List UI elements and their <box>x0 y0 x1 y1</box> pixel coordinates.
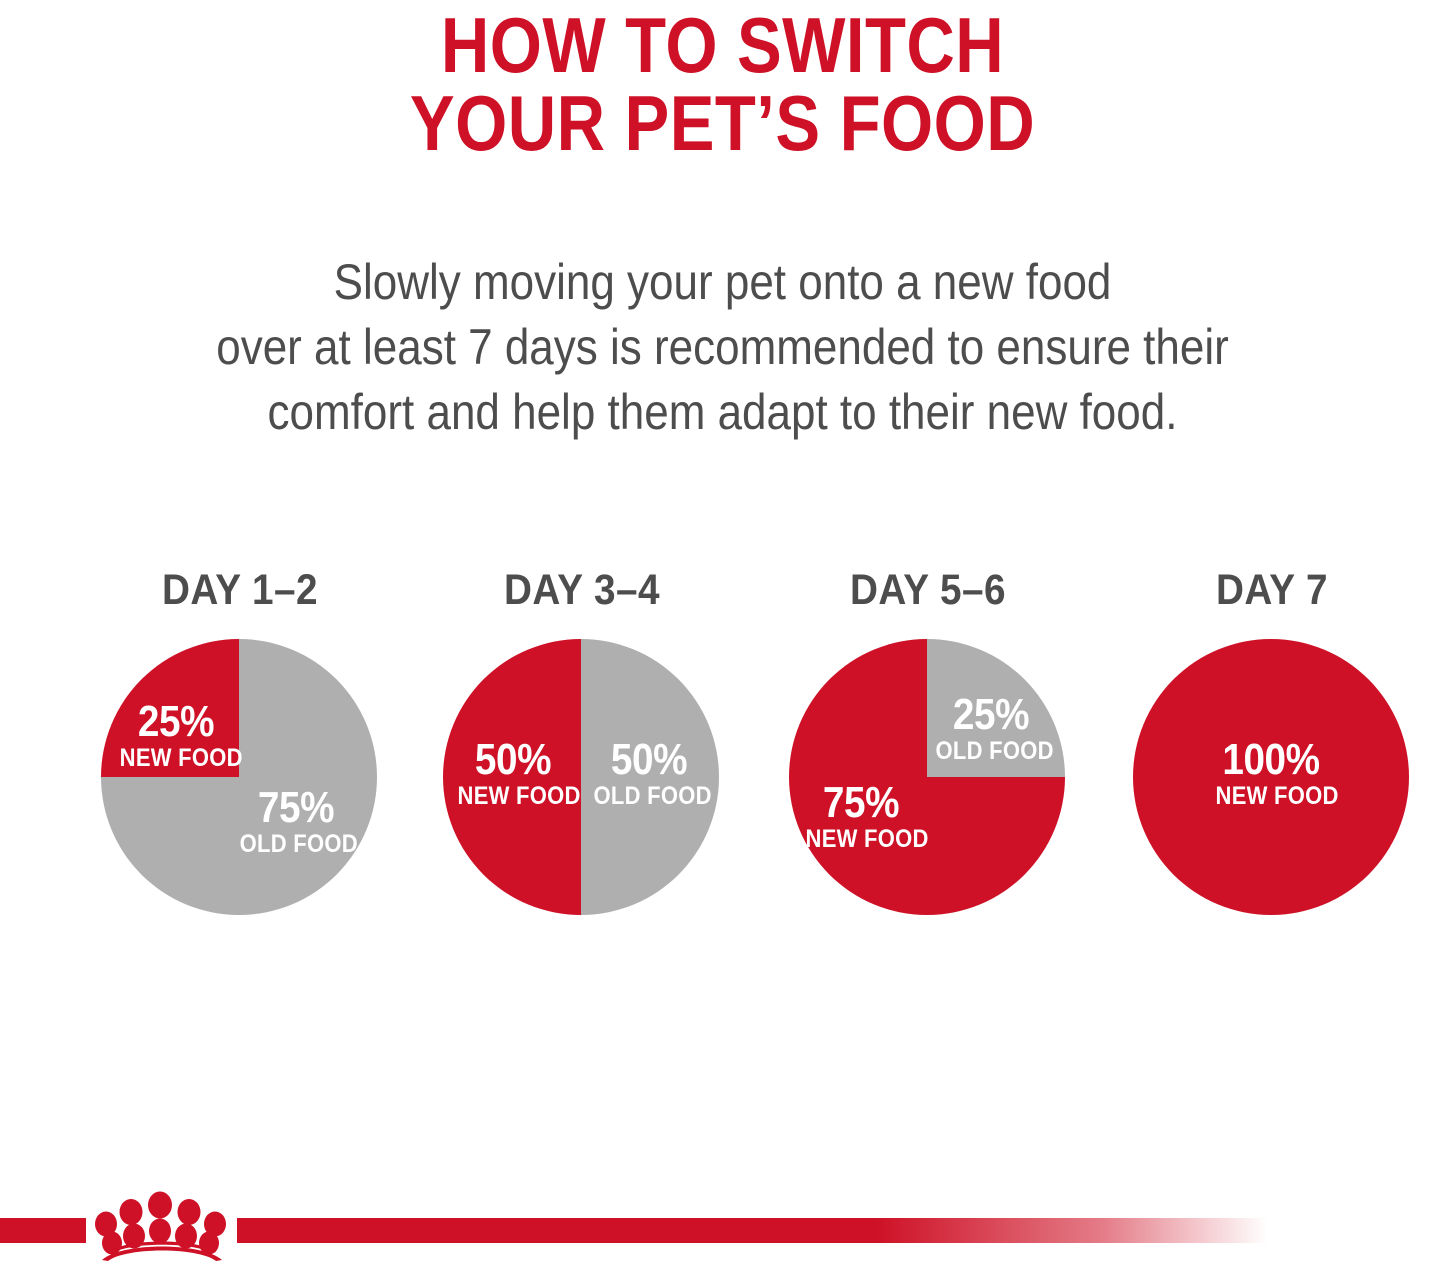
slice-pct-new-food-2: 50% <box>458 738 569 782</box>
slice-label-old-food-1: 75% OLD FOOD <box>240 786 353 858</box>
pie-labels-2: 50% NEW FOOD 50% OLD FOOD <box>442 638 720 916</box>
day-label-1: DAY 1–2 <box>105 568 375 612</box>
slice-label-new-food-4: 100% NEW FOOD <box>1216 738 1327 810</box>
footer-band-left-segment <box>0 1218 86 1243</box>
slice-label-old-food-3: 25% OLD FOOD <box>936 693 1047 765</box>
slice-food-old-food-3: OLD FOOD <box>936 737 1047 765</box>
slice-food-new-food-2: NEW FOOD <box>458 782 569 810</box>
pie-chart-day-7: 100% NEW FOOD <box>1132 638 1410 916</box>
subtitle-line-1: Slowly moving your pet onto a new food <box>87 250 1359 315</box>
slice-food-new-food-4: NEW FOOD <box>1216 782 1327 810</box>
slice-label-old-food-2: 50% OLD FOOD <box>594 738 705 810</box>
slice-pct-new-food-3: 75% <box>806 781 917 825</box>
slice-label-new-food-1: 25% NEW FOOD <box>120 700 233 772</box>
subtitle-line-2: over at least 7 days is recommended to e… <box>87 315 1359 380</box>
pie-chart-day-5-6: 25% OLD FOOD 75% NEW FOOD <box>788 638 1066 916</box>
slice-food-new-food-1: NEW FOOD <box>120 744 233 772</box>
slice-food-old-food-1: OLD FOOD <box>240 830 353 858</box>
subtitle-line-3: comfort and help them adapt to their new… <box>87 380 1359 445</box>
subtitle: Slowly moving your pet onto a new food o… <box>0 250 1445 445</box>
pie-group-day-7: DAY 7 100% NEW FOOD <box>1122 560 1422 960</box>
pie-chart-row: DAY 1–2 25% NEW FOOD 75% OLD FOOD DA <box>0 560 1445 960</box>
slice-pct-old-food-1: 75% <box>240 786 353 830</box>
pie-labels-3: 25% OLD FOOD 75% NEW FOOD <box>788 638 1066 916</box>
slice-label-new-food-2: 50% NEW FOOD <box>458 738 569 810</box>
crown-svg <box>88 1190 236 1262</box>
day-label-4: DAY 7 <box>1137 568 1407 612</box>
day-label-3: DAY 5–6 <box>793 568 1063 612</box>
pie-group-day-1-2: DAY 1–2 25% NEW FOOD 75% OLD FOOD <box>90 560 390 960</box>
slice-label-new-food-3: 75% NEW FOOD <box>806 781 917 853</box>
pie-chart-day-3-4: 50% NEW FOOD 50% OLD FOOD <box>442 638 720 916</box>
title-line-2: YOUR PET’S FOOD <box>101 84 1344 162</box>
slice-food-old-food-2: OLD FOOD <box>594 782 705 810</box>
day-label-2: DAY 3–4 <box>447 568 717 612</box>
pie-chart-day-1-2: 25% NEW FOOD 75% OLD FOOD <box>100 638 378 916</box>
royal-canin-crown-icon <box>88 1190 236 1262</box>
pie-group-day-5-6: DAY 5–6 25% OLD FOOD 75% NEW FOOD <box>778 560 1078 960</box>
pie-group-day-3-4: DAY 3–4 50% NEW FOOD 50% OLD FOOD <box>432 560 732 960</box>
slice-pct-new-food-1: 25% <box>120 700 233 744</box>
pie-labels-1: 25% NEW FOOD 75% OLD FOOD <box>100 638 378 916</box>
slice-pct-new-food-4: 100% <box>1216 738 1327 782</box>
footer-band-right-segment <box>237 1218 1268 1243</box>
slice-pct-old-food-2: 50% <box>594 738 705 782</box>
slice-pct-old-food-3: 25% <box>936 693 1047 737</box>
slice-food-new-food-3: NEW FOOD <box>806 825 917 853</box>
page-title: HOW TO SWITCH YOUR PET’S FOOD <box>0 6 1445 162</box>
title-line-1: HOW TO SWITCH <box>101 6 1344 84</box>
pie-labels-4: 100% NEW FOOD <box>1132 638 1410 916</box>
